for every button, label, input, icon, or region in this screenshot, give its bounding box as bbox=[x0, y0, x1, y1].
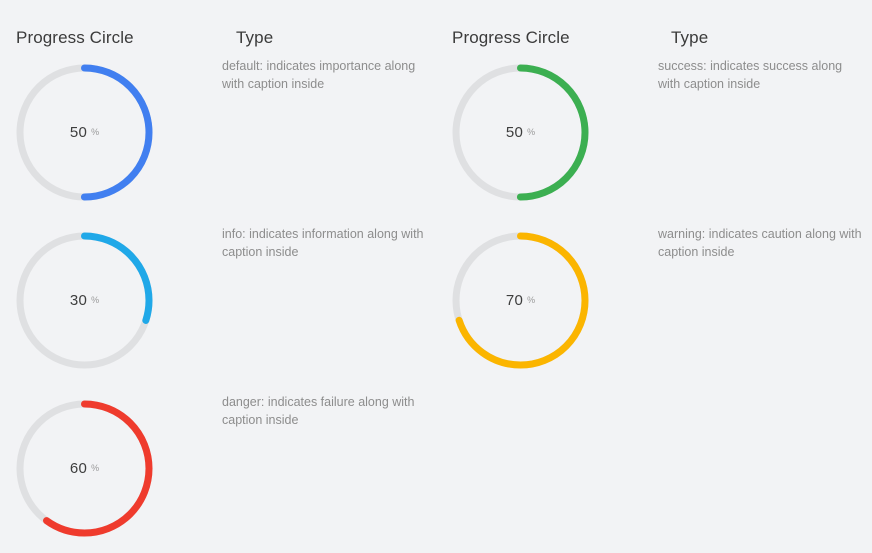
progress-circle-warning[interactable]: 70 % bbox=[452, 232, 589, 369]
progress-row-danger: 60 % danger: indicates failure along wit… bbox=[0, 385, 436, 553]
column-header-progress-circle-right: Progress Circle bbox=[452, 28, 570, 48]
progress-circle-caption: 50 % bbox=[16, 64, 153, 201]
type-description-warning: warning: indicates caution along with ca… bbox=[658, 225, 863, 261]
progress-row-default: 50 % default: indicates importance along… bbox=[0, 49, 436, 217]
progress-row-warning: 70 % warning: indicates caution along wi… bbox=[436, 217, 872, 385]
progress-circle-danger[interactable]: 60 % bbox=[16, 400, 153, 537]
progress-circle-showcase: Progress Circle Type Progress Circle Typ… bbox=[0, 0, 872, 547]
progress-circle-caption: 50 % bbox=[452, 64, 589, 201]
progress-value: 50 bbox=[506, 124, 523, 141]
column-header-type-left: Type bbox=[236, 28, 273, 48]
type-description-info: info: indicates information along with c… bbox=[222, 225, 440, 261]
column-header-progress-circle-left: Progress Circle bbox=[16, 28, 134, 48]
progress-circle-caption: 30 % bbox=[16, 232, 153, 369]
progress-unit: % bbox=[527, 295, 535, 305]
progress-unit: % bbox=[527, 127, 535, 137]
type-description-danger: danger: indicates failure along with cap… bbox=[222, 393, 440, 429]
progress-row-success: 50 % success: indicates success along wi… bbox=[436, 49, 872, 217]
type-description-default: default: indicates importance along with… bbox=[222, 57, 440, 93]
progress-value: 70 bbox=[506, 292, 523, 309]
progress-row-info: 30 % info: indicates information along w… bbox=[0, 217, 436, 385]
column-header-type-right: Type bbox=[671, 28, 708, 48]
progress-unit: % bbox=[91, 295, 99, 305]
progress-circle-caption: 60 % bbox=[16, 400, 153, 537]
progress-circle-success[interactable]: 50 % bbox=[452, 64, 589, 201]
progress-value: 30 bbox=[70, 292, 87, 309]
progress-unit: % bbox=[91, 127, 99, 137]
progress-value: 60 bbox=[70, 460, 87, 477]
progress-value: 50 bbox=[70, 124, 87, 141]
progress-circle-info[interactable]: 30 % bbox=[16, 232, 153, 369]
progress-circle-caption: 70 % bbox=[452, 232, 589, 369]
progress-circle-default[interactable]: 50 % bbox=[16, 64, 153, 201]
type-description-success: success: indicates success along with ca… bbox=[658, 57, 863, 93]
progress-unit: % bbox=[91, 463, 99, 473]
